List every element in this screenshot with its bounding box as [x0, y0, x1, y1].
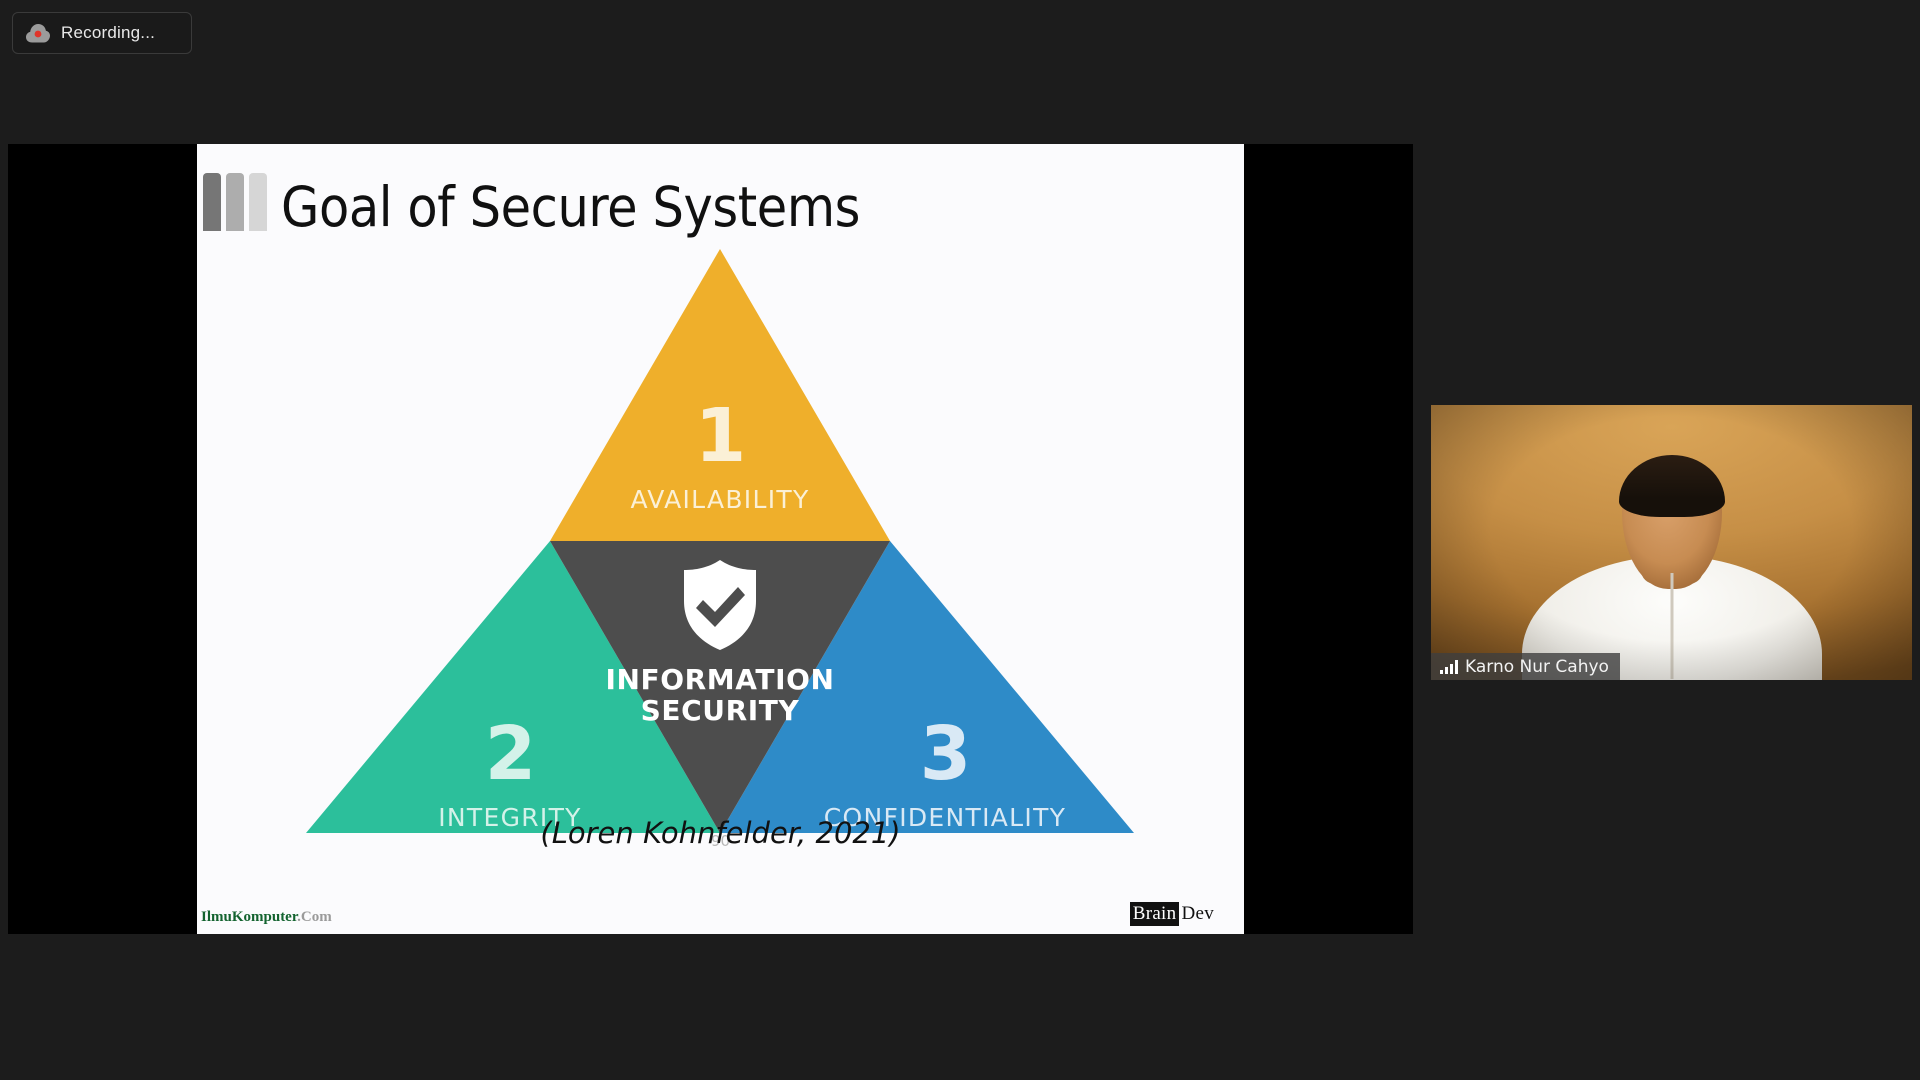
slide-title-row: Goal of Secure Systems — [203, 173, 860, 235]
presentation-slide[interactable]: Goal of Secure Systems 1 AVAILABILITY — [197, 144, 1244, 934]
video-vignette — [1431, 405, 1912, 680]
signal-strength-icon — [1440, 660, 1458, 674]
segment-label-information-security: INFORMATION SECURITY — [565, 559, 875, 727]
participant-name-badge: Karno Nur Cahyo — [1431, 653, 1620, 680]
center-label-line2: SECURITY — [565, 696, 875, 727]
participant-video-tile[interactable]: Karno Nur Cahyo — [1431, 405, 1912, 680]
participant-name: Karno Nur Cahyo — [1465, 657, 1609, 677]
slide-caption: (Loren Kohnfelder, 2021) — [197, 816, 1244, 850]
cia-triad-diagram: 1 AVAILABILITY 2 INTEGRITY 3 CONFIDENTIA… — [305, 249, 1135, 899]
recording-label: Recording... — [61, 23, 155, 43]
shield-check-icon — [681, 559, 759, 651]
footer-logo-part1: Brain — [1130, 902, 1180, 926]
footer-brand-name: IlmuKomputer — [201, 909, 297, 925]
footer-logo-braindev: BrainDev — [1130, 902, 1216, 926]
footer-logo-part2: Dev — [1179, 902, 1216, 926]
page-title: Goal of Secure Systems — [281, 180, 860, 235]
recording-indicator[interactable]: Recording... — [12, 12, 192, 54]
recording-cloud-icon — [25, 22, 51, 44]
footer-watermark-ilmukomputer: IlmuKomputer.Com — [201, 909, 332, 926]
center-label-line1: INFORMATION — [565, 665, 875, 696]
shared-screen-stage[interactable]: Goal of Secure Systems 1 AVAILABILITY — [8, 144, 1413, 934]
segment-availability-shape — [550, 249, 890, 541]
title-bars-decoration — [203, 173, 267, 231]
footer-brand-suffix: .Com — [297, 909, 332, 925]
